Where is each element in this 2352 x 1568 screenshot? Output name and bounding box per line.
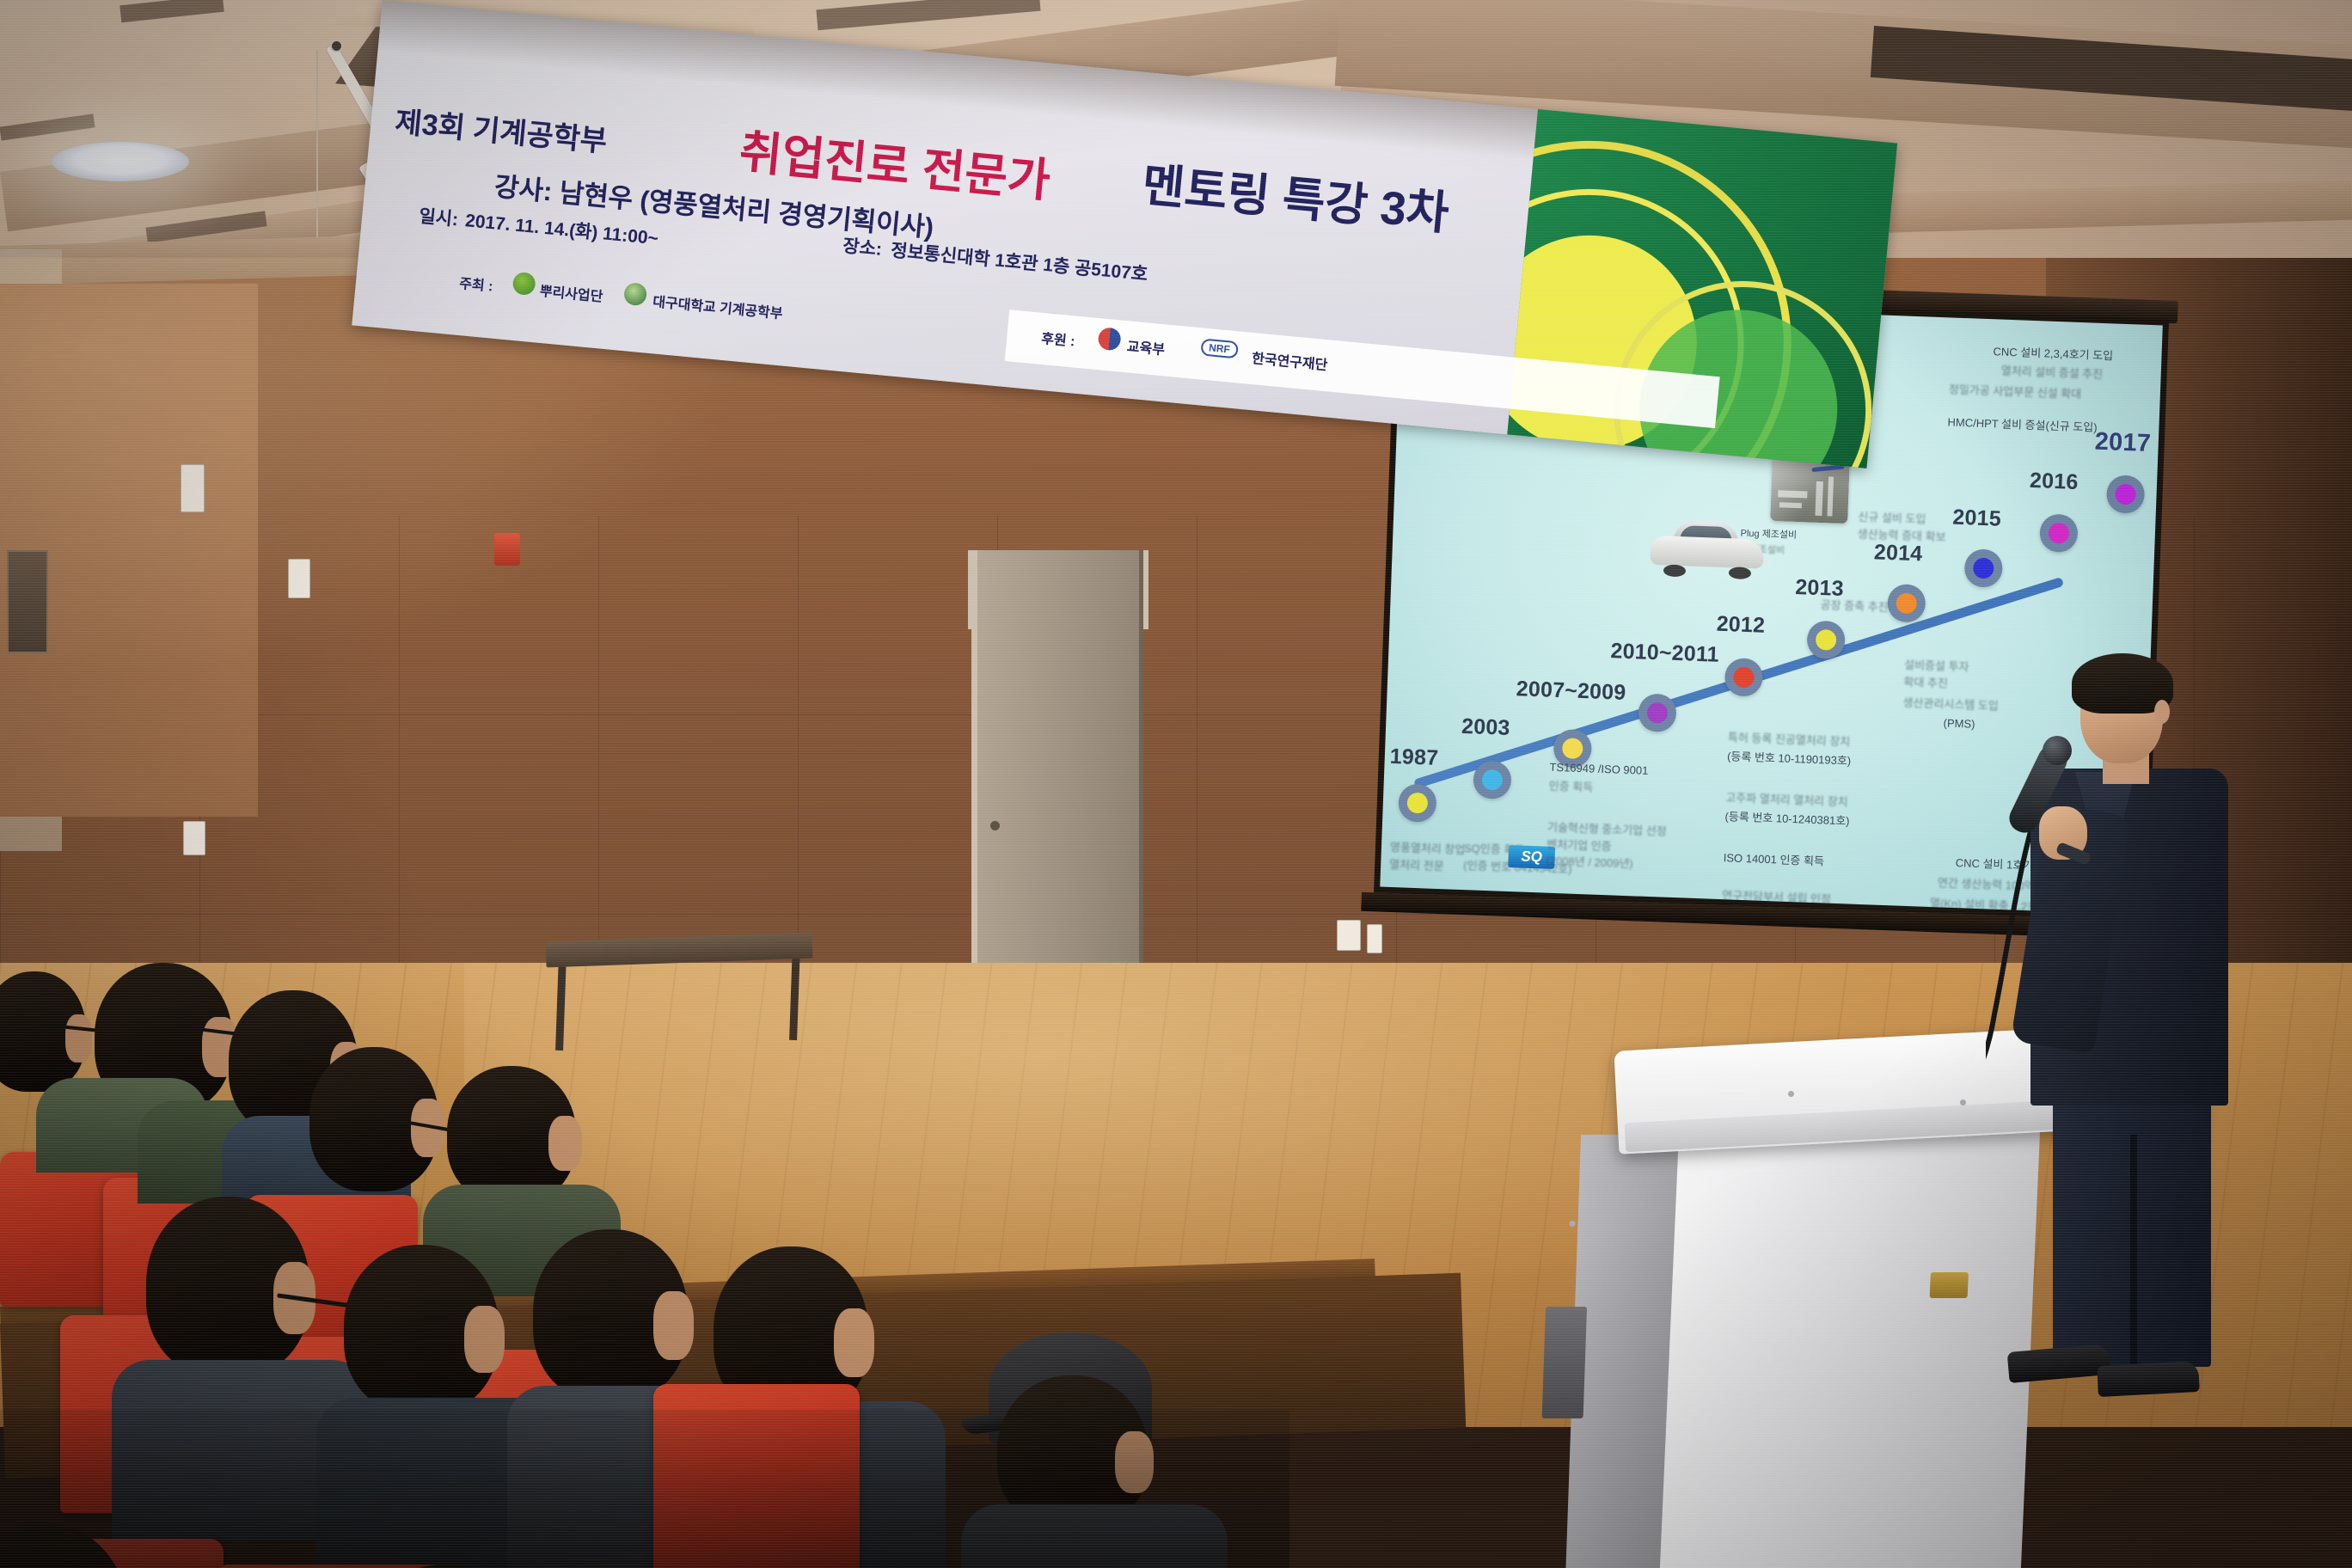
banner-place-label: 장소:	[842, 232, 883, 261]
stage-door[interactable]	[971, 550, 1143, 1006]
timeline-node-2015	[1964, 548, 2004, 588]
timeline-note-rnd: 연구전담부서 설립 인정	[1722, 887, 1831, 908]
wall-outlet[interactable]	[183, 821, 205, 855]
timeline-node-2014	[1887, 584, 1926, 623]
banner-sponsor-1: 교육부	[1126, 334, 1166, 358]
presenter-ear	[2154, 700, 2170, 724]
timeline-year-label: 2007~2009	[1516, 677, 1626, 706]
nrf-logo-icon: NRF	[1200, 338, 1238, 358]
timeline-node-2010-2011	[1638, 693, 1677, 732]
banner-sponsor-label: 후원 :	[1040, 327, 1075, 351]
timeline-year-label: 2017	[2094, 428, 2151, 458]
presenter	[1986, 653, 2269, 1401]
timeline-year-label: 1987	[1389, 744, 1438, 771]
timeline-node-2017	[2106, 475, 2146, 514]
timeline-note-2013: 설비증설 투자확대 추진	[1903, 657, 1969, 693]
podium-screw	[1788, 1091, 1794, 1097]
lecture-hall-photo: Plug 제조설비 N-제조설비	[0, 0, 2352, 1568]
audience-head	[533, 1229, 688, 1401]
timeline-year-label: 2016	[2030, 469, 2079, 495]
timeline-cert-iso14001: ISO 14001 인증 획득	[1723, 849, 1824, 870]
banner-date-label: 일시:	[418, 202, 459, 231]
presenter-leg-split	[2130, 1135, 2137, 1367]
timeline-note-2007-2009: 기술혁신형 중소기업 선정벤처기업 인증(2008년 / 2009년)	[1546, 819, 1667, 874]
timeline-node-2012	[1724, 658, 1764, 697]
timeline-note-1987: 영풍열처리 창업열처리 전문	[1389, 839, 1466, 875]
door-knob-icon[interactable]	[990, 821, 1000, 830]
timeline-node-1987	[1398, 783, 1437, 823]
timeline-note-2012: 생산관리시스템 도입	[1902, 695, 1999, 715]
presenter-shoe-right	[2097, 1361, 2200, 1397]
presenter-shoe-left	[2007, 1344, 2111, 1383]
timeline-node-2003	[1473, 760, 1512, 799]
timeline-note-2014: 공장 증축 추진	[1820, 597, 1889, 616]
timeline-pms-label: (PMS)	[1943, 714, 1975, 732]
wall-switch[interactable]	[181, 464, 205, 512]
audience-head	[146, 1197, 309, 1377]
wall-outlet[interactable]	[288, 559, 310, 598]
lift-pivot	[330, 40, 343, 52]
timeline-note-patent-1: 특허 등록 진공열처리 장치	[1728, 729, 1851, 750]
podium-brass-plate	[1930, 1272, 1969, 1298]
timeline-node-2016	[2039, 513, 2079, 553]
timeline-year-label: 2015	[1952, 505, 2001, 532]
audience-head	[344, 1245, 499, 1413]
banner-host-label: 주최 :	[458, 272, 493, 296]
timeline-note-2015: 신규 설비 도입생산능력 증대 확보	[1857, 509, 1946, 546]
timeline-note-patent-2: 고주파 열처리 열처리 장치	[1725, 789, 1848, 811]
timeline-cert-ts16949: TS16949 /ISO 9001	[1549, 759, 1649, 780]
timeline-machine-cnc-234: CNC 설비 2,3,4호기 도입	[1993, 343, 2113, 364]
timeline-patent-number-1: (등록 번호 10-1190193호)	[1727, 748, 1852, 769]
wall-outlet[interactable]	[1367, 924, 1382, 953]
podium-screw	[1960, 1099, 1966, 1106]
audience-head	[309, 1047, 438, 1191]
timeline-note-2017-detail-2: 정밀가공 사업부문 신설 확대	[1949, 381, 2082, 402]
timeline-year-label: 2003	[1461, 714, 1510, 741]
timeline-machine-hmc-hpt: HMC/HPT 설비 증설(신규 도입)	[1947, 413, 2098, 436]
foreground-shadow	[0, 1410, 1289, 1568]
microphone-head-icon[interactable]	[2043, 736, 2072, 765]
timeline-year-label: 2010~2011	[1610, 639, 1719, 668]
wall-plaque	[7, 550, 48, 653]
timeline-note-2017-detail: 열처리 설비 증설 추진	[2000, 363, 2103, 383]
timeline-patent-number-2: (등록 번호 10-1240381호)	[1724, 808, 1850, 830]
audience-head	[0, 971, 86, 1092]
timeline-note-cert-suffix: 인증 획득	[1548, 778, 1593, 796]
slide-car-image	[1650, 520, 1765, 578]
emergency-light-icon	[494, 533, 520, 566]
ceiling-light	[52, 142, 189, 181]
audience-head	[447, 1066, 576, 1204]
timeline-year-label: 2012	[1716, 612, 1765, 639]
wall-outlet[interactable]	[1337, 920, 1361, 951]
